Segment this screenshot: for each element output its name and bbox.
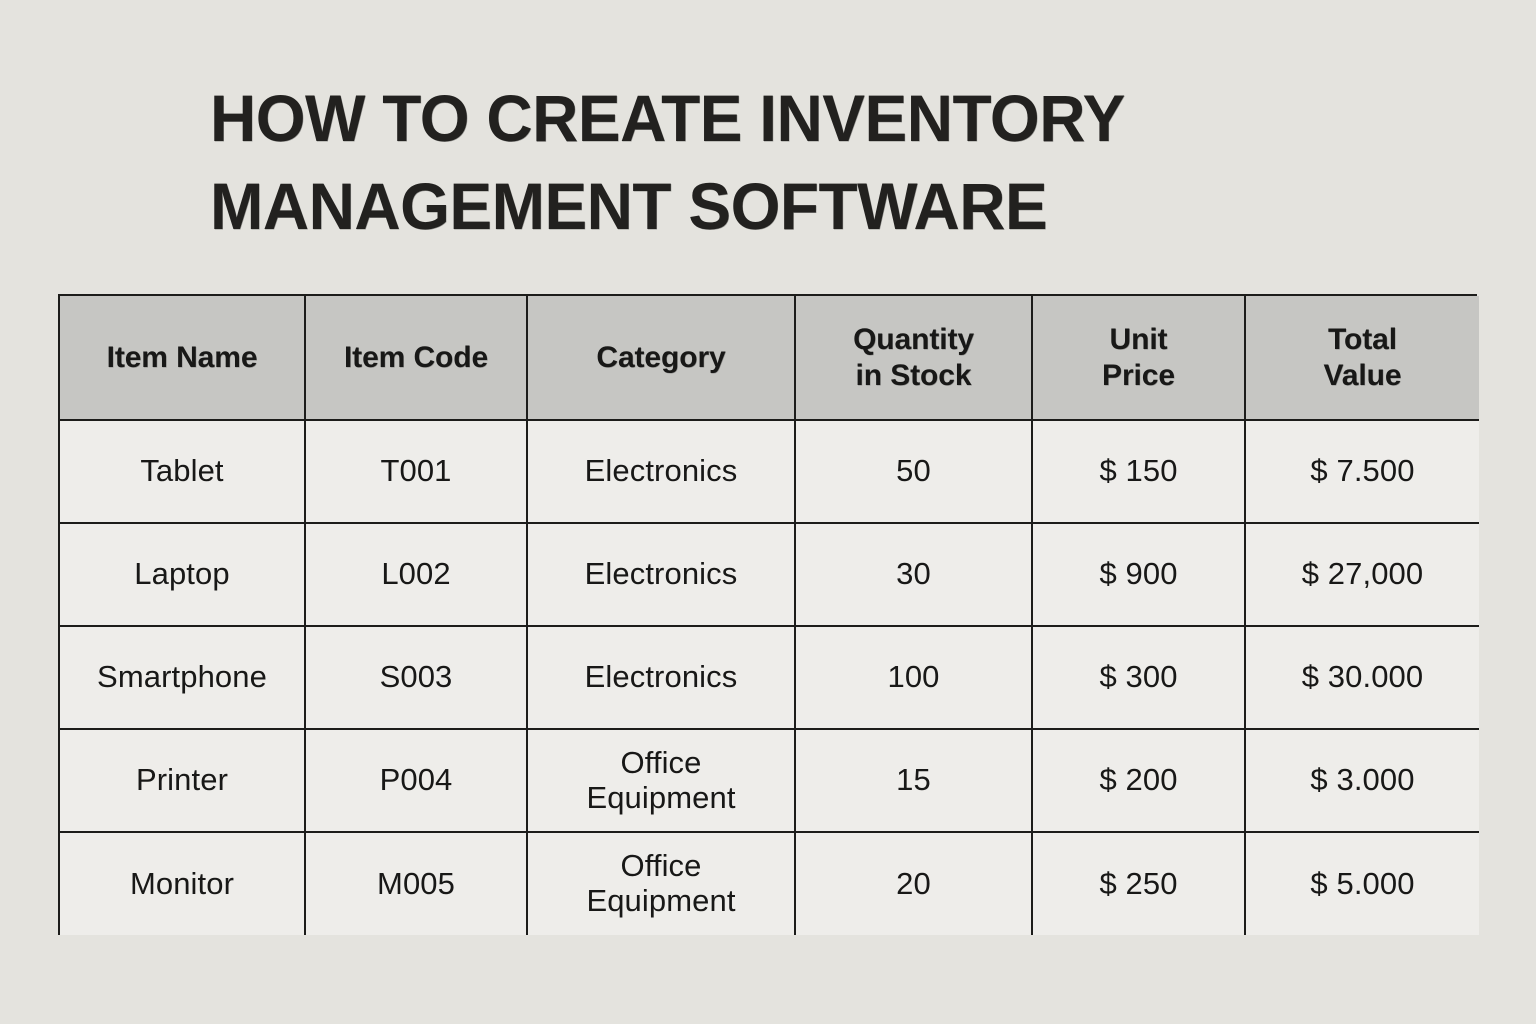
table-row: Tablet T001 Electronics 50 $ 150 $ 7.500 (60, 420, 1479, 523)
table-header: Item Name Item Code Category Quantity in… (60, 296, 1479, 420)
cell-item-code: P004 (305, 729, 527, 832)
column-header-category-label: Category (596, 341, 725, 374)
cell-item-name: Printer (60, 729, 305, 832)
column-header-item-name-label: Item Name (107, 341, 258, 374)
column-header-quantity-line-2: in Stock (802, 358, 1025, 393)
column-header-category: Category (527, 296, 795, 420)
column-header-quantity-line-1: Quantity (802, 322, 1025, 357)
column-header-unit-price: Unit Price (1032, 296, 1245, 420)
cell-category-line-1: Office (534, 746, 788, 781)
cell-category: Electronics (527, 626, 795, 729)
cell-quantity-in-stock: 15 (795, 729, 1032, 832)
cell-item-code: L002 (305, 523, 527, 626)
table-row: Laptop L002 Electronics 30 $ 900 $ 27,00… (60, 523, 1479, 626)
column-header-item-name: Item Name (60, 296, 305, 420)
cell-category: Office Equipment (527, 832, 795, 935)
cell-category-line-2: Equipment (534, 781, 788, 816)
column-header-total-value-line-2: Value (1252, 358, 1473, 393)
table-row: Monitor M005 Office Equipment 20 $ 250 $… (60, 832, 1479, 935)
page-root: How to Create Inventory Management Softw… (0, 0, 1536, 1024)
cell-category-line-1: Office (534, 849, 788, 884)
cell-item-name: Smartphone (60, 626, 305, 729)
cell-category: Electronics (527, 523, 795, 626)
cell-total-value: $ 7.500 (1245, 420, 1479, 523)
cell-unit-price: $ 200 (1032, 729, 1245, 832)
page-title-line-1: How to Create Inventory (210, 74, 1296, 162)
inventory-table: Item Name Item Code Category Quantity in… (60, 296, 1479, 935)
column-header-unit-price-line-2: Price (1039, 358, 1238, 393)
inventory-table-container: Item Name Item Code Category Quantity in… (58, 294, 1477, 935)
cell-quantity-in-stock: 20 (795, 832, 1032, 935)
cell-item-name: Tablet (60, 420, 305, 523)
cell-item-code: T001 (305, 420, 527, 523)
table-body: Tablet T001 Electronics 50 $ 150 $ 7.500… (60, 420, 1479, 935)
cell-item-name: Laptop (60, 523, 305, 626)
cell-unit-price: $ 900 (1032, 523, 1245, 626)
column-header-quantity-in-stock: Quantity in Stock (795, 296, 1032, 420)
column-header-total-value-line-1: Total (1252, 322, 1473, 357)
cell-unit-price: $ 300 (1032, 626, 1245, 729)
column-header-item-code: Item Code (305, 296, 527, 420)
page-title-line-2: Management Software (210, 162, 1296, 250)
column-header-unit-price-line-1: Unit (1039, 322, 1238, 357)
cell-total-value: $ 27,000 (1245, 523, 1479, 626)
cell-category: Electronics (527, 420, 795, 523)
cell-unit-price: $ 150 (1032, 420, 1245, 523)
cell-total-value: $ 30.000 (1245, 626, 1479, 729)
table-row: Smartphone S003 Electronics 100 $ 300 $ … (60, 626, 1479, 729)
column-header-total-value: Total Value (1245, 296, 1479, 420)
cell-quantity-in-stock: 50 (795, 420, 1032, 523)
cell-item-code: M005 (305, 832, 527, 935)
cell-item-name: Monitor (60, 832, 305, 935)
cell-unit-price: $ 250 (1032, 832, 1245, 935)
cell-total-value: $ 5.000 (1245, 832, 1479, 935)
column-header-item-code-label: Item Code (344, 341, 488, 374)
cell-quantity-in-stock: 100 (795, 626, 1032, 729)
cell-category-line-2: Equipment (534, 884, 788, 919)
cell-category: Office Equipment (527, 729, 795, 832)
cell-total-value: $ 3.000 (1245, 729, 1479, 832)
table-row: Printer P004 Office Equipment 15 $ 200 $… (60, 729, 1479, 832)
page-title: How to Create Inventory Management Softw… (210, 74, 1296, 250)
cell-quantity-in-stock: 30 (795, 523, 1032, 626)
table-header-row: Item Name Item Code Category Quantity in… (60, 296, 1479, 420)
cell-item-code: S003 (305, 626, 527, 729)
